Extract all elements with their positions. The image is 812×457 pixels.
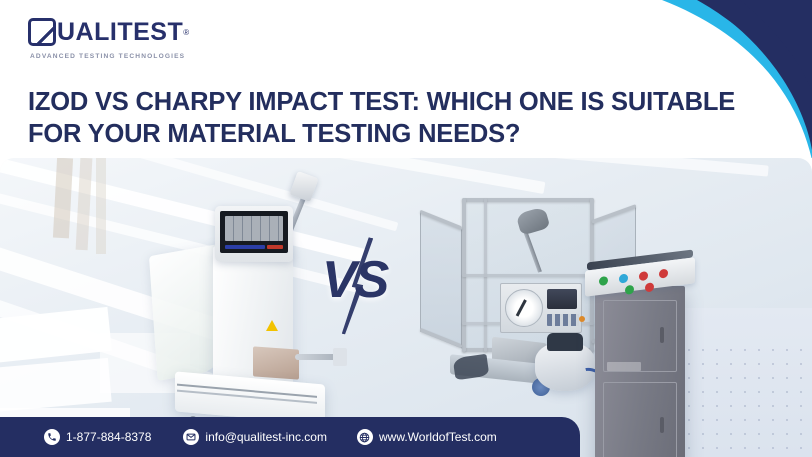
brand-name: UALITEST: [57, 20, 183, 45]
phone-icon: [44, 429, 60, 445]
hero-image: VS: [0, 158, 812, 457]
footer-phone[interactable]: 1-877-884-8378: [44, 429, 151, 445]
header: UALITEST ® ADVANCED TESTING TECHNOLOGIES…: [0, 0, 812, 158]
globe-icon: [357, 429, 373, 445]
page-title: IZOD VS CHARPY IMPACT TEST: WHICH ONE IS…: [28, 86, 758, 150]
charpy-impact-tester: [420, 188, 760, 453]
contact-footer: 1-877-884-8378 info@qualitest-inc.com ww…: [0, 417, 580, 457]
footer-phone-label: 1-877-884-8378: [66, 430, 151, 444]
qualitest-q-icon: [28, 18, 56, 46]
footer-website-label: www.WorldofTest.com: [379, 430, 497, 444]
izod-impact-tester: [183, 178, 333, 443]
envelope-icon: [183, 429, 199, 445]
footer-email[interactable]: info@qualitest-inc.com: [183, 429, 327, 445]
control-cabinet: [595, 286, 685, 457]
footer-email-label: info@qualitest-inc.com: [205, 430, 327, 444]
footer-website[interactable]: www.WorldofTest.com: [357, 429, 497, 445]
trademark-symbol: ®: [183, 28, 189, 37]
brand-tagline: ADVANCED TESTING TECHNOLOGIES: [30, 53, 189, 60]
brand-logo[interactable]: UALITEST ® ADVANCED TESTING TECHNOLOGIES: [28, 18, 189, 60]
promo-banner: UALITEST ® ADVANCED TESTING TECHNOLOGIES…: [0, 0, 812, 457]
